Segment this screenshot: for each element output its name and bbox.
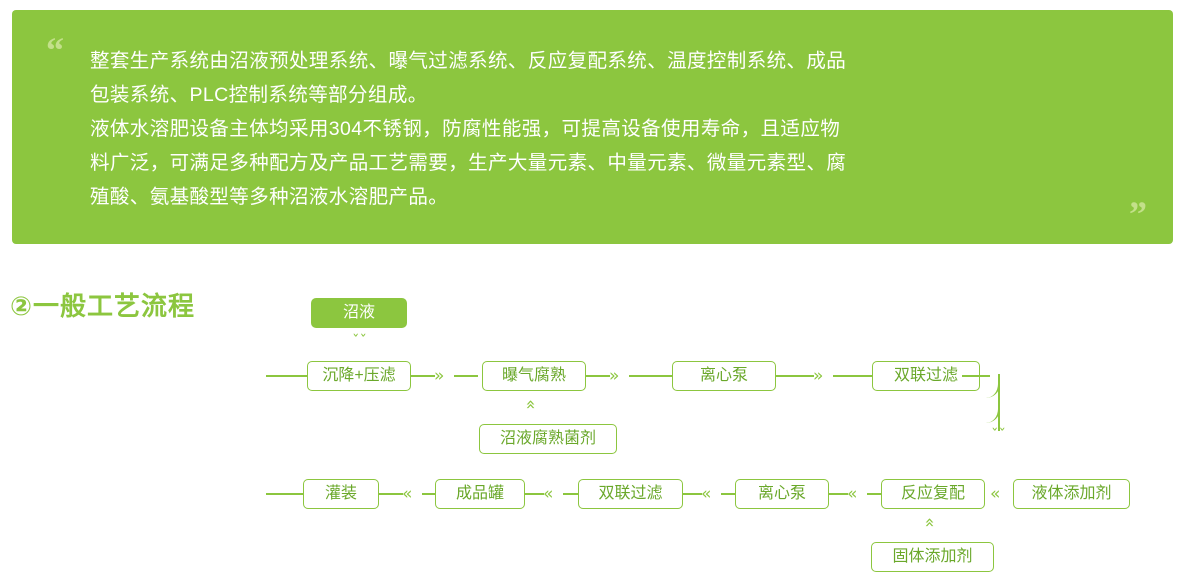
arrow-left-icon-4: « xyxy=(847,486,855,503)
flow-line-r2-c xyxy=(525,493,544,495)
quote-line-2: 包装系统、PLC控制系统等部分组成。 xyxy=(90,78,1102,112)
flow-line-r2-f xyxy=(721,493,735,495)
flow-node-settling-filter: 沉降+压滤 xyxy=(307,361,411,391)
flow-line-r2-d xyxy=(563,493,579,495)
arrow-down-icon-1: ˇˇ xyxy=(352,334,367,349)
flow-line-r1-b xyxy=(454,375,478,377)
quote-line-3: 液体水溶肥设备主体均采用304不锈钢，防腐性能强，可提高设备使用寿命，且适应物 xyxy=(90,112,1102,146)
arrow-up-icon-1: » xyxy=(523,401,540,409)
flow-line-r2-a xyxy=(379,493,403,495)
quote-open-icon: “ xyxy=(46,32,64,68)
quote-line-5: 殖酸、氨基酸型等多种沼液水溶肥产品。 xyxy=(90,180,1102,214)
quote-close-icon: ” xyxy=(1129,196,1147,232)
flow-line-r2-g xyxy=(829,493,848,495)
flow-node-finished-tank: 成品罐 xyxy=(435,479,525,509)
flow-node-reaction-blending: 反应复配 xyxy=(881,479,985,509)
flow-node-biogas-slurry: 沼液 xyxy=(311,298,407,328)
arrow-right-icon-1: » xyxy=(434,368,442,385)
flow-line-r2-h xyxy=(867,493,881,495)
arrow-right-icon-3: » xyxy=(813,368,821,385)
quote-line-4: 料广泛，可满足多种配方及产品工艺需要，生产大量元素、中量元素、微量元素型、腐 xyxy=(90,146,1102,180)
arrow-up-icon-2: » xyxy=(922,519,939,527)
flow-node-duplex-filter-2: 双联过滤 xyxy=(578,479,683,509)
flow-line-r1-f xyxy=(833,375,872,377)
flow-node-filling: 灌装 xyxy=(303,479,379,509)
flow-line-row1-start xyxy=(266,375,308,377)
quote-text: 整套生产系统由沼液预处理系统、曝气过滤系统、反应复配系统、温度控制系统、成品 包… xyxy=(90,44,1102,214)
flow-line-r2-e xyxy=(683,493,702,495)
flow-node-centrifugal-pump-1: 离心泵 xyxy=(672,361,776,391)
flow-line-r1-a xyxy=(411,375,435,377)
arrow-left-icon-2: « xyxy=(543,486,551,503)
process-flow-diagram: 沼液 ˇˇ 沉降+压滤 » 曝气腐熟 » 离心泵 » 双联过滤 ˇˇ » 沼液腐… xyxy=(0,270,1193,588)
flow-node-centrifugal-pump-2: 离心泵 xyxy=(735,479,829,509)
flow-line-row2-start xyxy=(266,493,304,495)
flow-node-solid-additive: 固体添加剂 xyxy=(871,542,994,572)
flow-line-r1-d xyxy=(629,375,672,377)
flow-node-slurry-maturation-agent: 沼液腐熟菌剂 xyxy=(479,424,617,454)
quote-banner: “ 整套生产系统由沼液预处理系统、曝气过滤系统、反应复配系统、温度控制系统、成品… xyxy=(12,10,1173,244)
flow-line-r1-c xyxy=(586,375,610,377)
flow-line-r1-e xyxy=(776,375,814,377)
flow-line-vertical-right xyxy=(998,386,1000,431)
arrow-left-icon-5: « xyxy=(990,486,998,503)
arrow-right-icon-2: » xyxy=(609,368,617,385)
quote-line-1: 整套生产系统由沼液预处理系统、曝气过滤系统、反应复配系统、温度控制系统、成品 xyxy=(90,44,1102,78)
flow-line-r2-b xyxy=(422,493,435,495)
arrow-left-icon-1: « xyxy=(402,486,410,503)
arrow-left-icon-3: « xyxy=(701,486,709,503)
flow-node-aeration-maturation: 曝气腐熟 xyxy=(482,361,586,391)
flow-node-liquid-additive: 液体添加剂 xyxy=(1013,479,1130,509)
arrow-down-icon-2: ˇˇ xyxy=(991,428,1006,443)
